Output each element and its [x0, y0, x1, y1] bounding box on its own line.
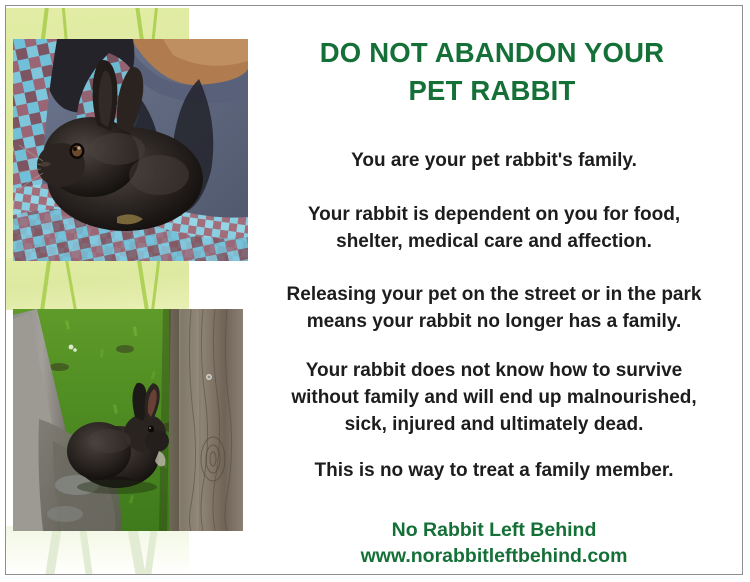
grass-band-middle: [6, 258, 189, 310]
grass-band-middle-background: [6, 258, 189, 310]
message-paragraph-2: Your rabbit is dependent on you for food…: [244, 202, 743, 256]
image-column: [6, 6, 244, 574]
grass-band-bottom: [6, 526, 189, 574]
message-paragraph-2-line-1: Your rabbit is dependent on you for food…: [244, 202, 743, 229]
poster-title-line-2: PET RABBIT: [244, 72, 740, 110]
message-paragraph-4-line-2: without family and will end up malnouris…: [244, 385, 743, 412]
message-paragraph-5-line-1: This is no way to treat a family member.: [244, 458, 743, 485]
message-paragraph-2-line-2: shelter, medical care and affection.: [244, 229, 743, 256]
message-paragraph-3-line-1: Releasing your pet on the street or in t…: [244, 282, 743, 309]
message-paragraph-1-line-1: You are your pet rabbit's family.: [244, 148, 743, 175]
message-paragraph-3-line-2: means your rabbit no longer has a family…: [244, 309, 743, 336]
poster-title-line-1: DO NOT ABANDON YOUR: [244, 34, 740, 72]
poster-footer: No Rabbit Left Behind www.norabbitleftbe…: [244, 517, 743, 570]
message-paragraph-4-line-3: sick, injured and ultimately dead.: [244, 412, 743, 439]
black-rabbit-held-in-arms-photo: [13, 39, 248, 261]
poster-frame: DO NOT ABANDON YOUR PET RABBIT You are y…: [5, 5, 743, 575]
black-rabbit-outdoors-photo: [13, 309, 243, 531]
grass-band-bottom-background: [6, 526, 189, 574]
text-column: DO NOT ABANDON YOUR PET RABBIT You are y…: [244, 6, 743, 574]
message-paragraph-4: Your rabbit does not know how to survive…: [244, 358, 743, 439]
website-url[interactable]: www.norabbitleftbehind.com: [244, 543, 743, 569]
message-paragraph-5: This is no way to treat a family member.: [244, 458, 743, 485]
message-paragraph-4-line-1: Your rabbit does not know how to survive: [244, 358, 743, 385]
organization-name: No Rabbit Left Behind: [244, 517, 743, 543]
message-paragraph-1: You are your pet rabbit's family.: [244, 148, 743, 175]
poster-title: DO NOT ABANDON YOUR PET RABBIT: [244, 34, 740, 110]
message-paragraph-3: Releasing your pet on the street or in t…: [244, 282, 743, 336]
